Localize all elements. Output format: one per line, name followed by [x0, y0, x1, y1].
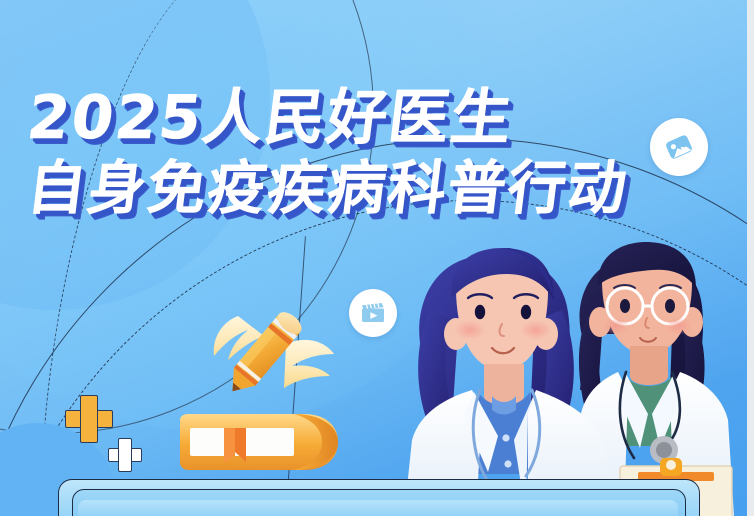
plus-orange-bar-v — [80, 395, 98, 443]
open-book-icon — [176, 412, 342, 474]
winged-pencil-icon — [178, 304, 346, 414]
plus-white-bar-v — [118, 438, 132, 472]
plus-white-icon — [108, 438, 140, 470]
video-badge[interactable] — [349, 289, 397, 337]
right-margin-strip — [747, 0, 754, 516]
video-clapperboard-icon — [359, 299, 387, 327]
desk-panel-lip — [78, 500, 678, 516]
photo-badge[interactable] — [650, 118, 708, 176]
poster-root: 2025人民好医生 自身免疫疾病科普行动 — [0, 0, 754, 516]
title-line-2: 自身免疫疾病科普行动 — [24, 156, 632, 220]
doctors-illustration — [402, 214, 747, 516]
page-title: 2025人民好医生 自身免疫疾病科普行动 — [28, 86, 628, 220]
image-photo-icon — [662, 130, 696, 164]
poster-canvas: 2025人民好医生 自身免疫疾病科普行动 — [0, 0, 747, 516]
title-line-1: 2025人民好医生 — [24, 86, 632, 150]
plus-orange-icon — [65, 395, 111, 441]
